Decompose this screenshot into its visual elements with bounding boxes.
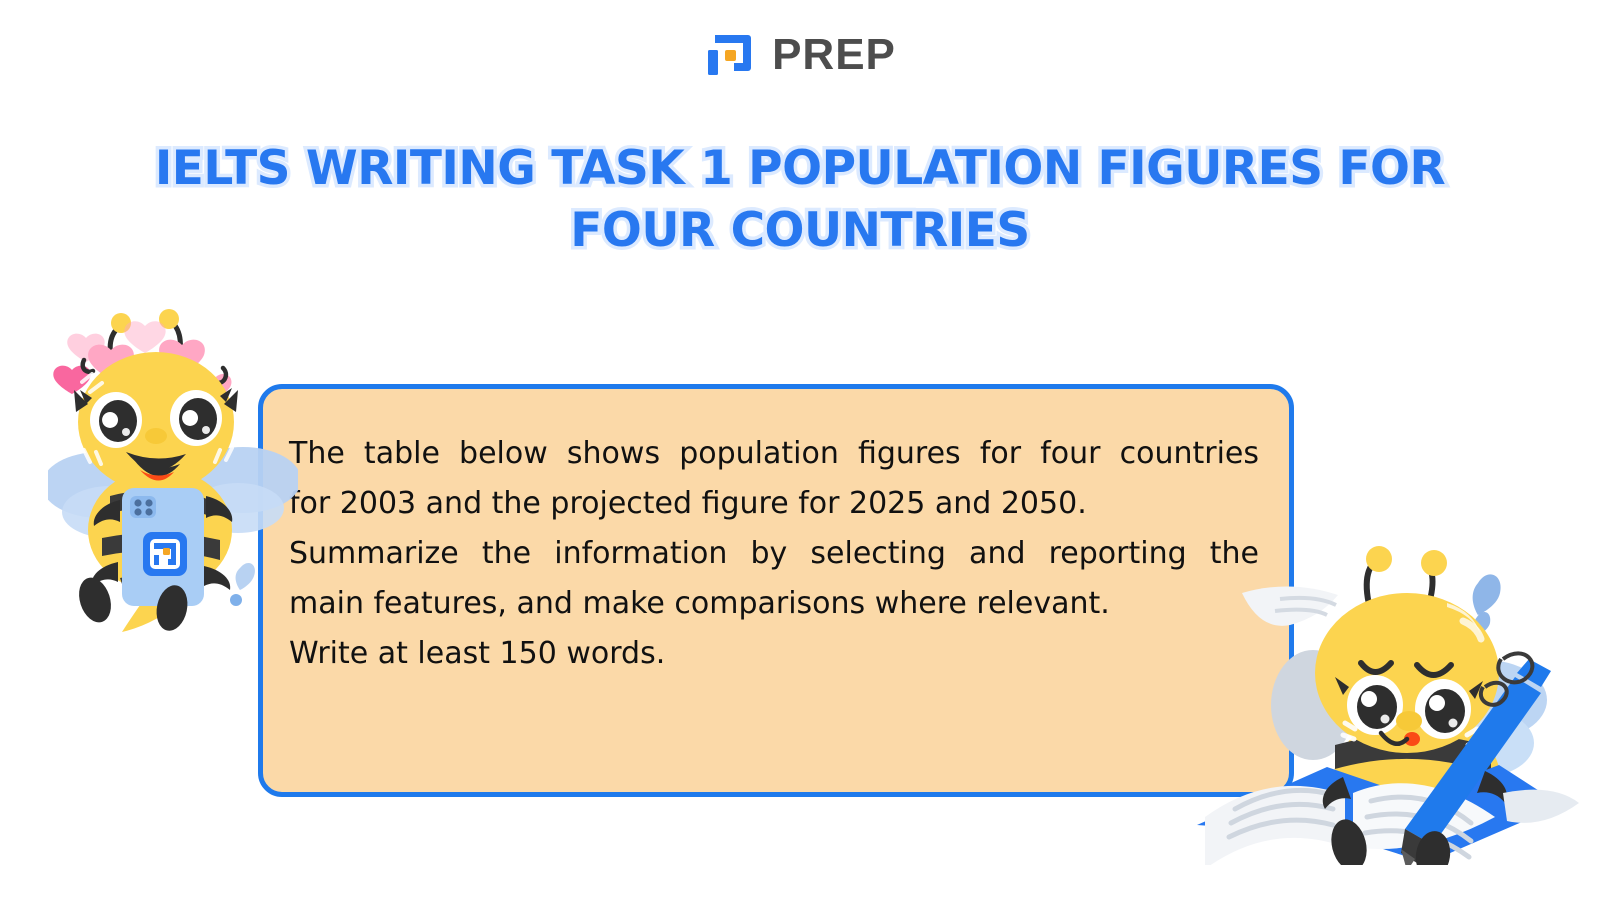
brand-name: PREP: [772, 33, 896, 77]
prompt-line-4: main features, and make comparisons wher…: [289, 579, 1259, 629]
prompt-line-3: Summarize the information by selecting a…: [289, 529, 1259, 579]
task-prompt-text: The table below shows population figures…: [289, 429, 1259, 679]
poster-canvas: PREP IELTS WRITING TASK 1 POPULATION FIG…: [0, 0, 1600, 900]
bee-reading-book-mascot: [1185, 525, 1585, 865]
bee-with-phone-mascot: [48, 300, 298, 640]
task-prompt-box: The table below shows population figures…: [258, 384, 1294, 797]
page-title-line-2: COUNTRIES: [731, 203, 1030, 258]
brand-logo[interactable]: PREP: [0, 28, 1600, 82]
prompt-line-2: for 2003 and the projected figure for 20…: [289, 479, 1259, 529]
prep-logo-mark-icon: [704, 28, 758, 82]
page-title: IELTS WRITING TASK 1 POPULATION FIGURES …: [130, 138, 1470, 262]
prompt-line-1: The table below shows population figures…: [289, 429, 1259, 479]
prompt-line-5: Write at least 150 words.: [289, 629, 1259, 679]
